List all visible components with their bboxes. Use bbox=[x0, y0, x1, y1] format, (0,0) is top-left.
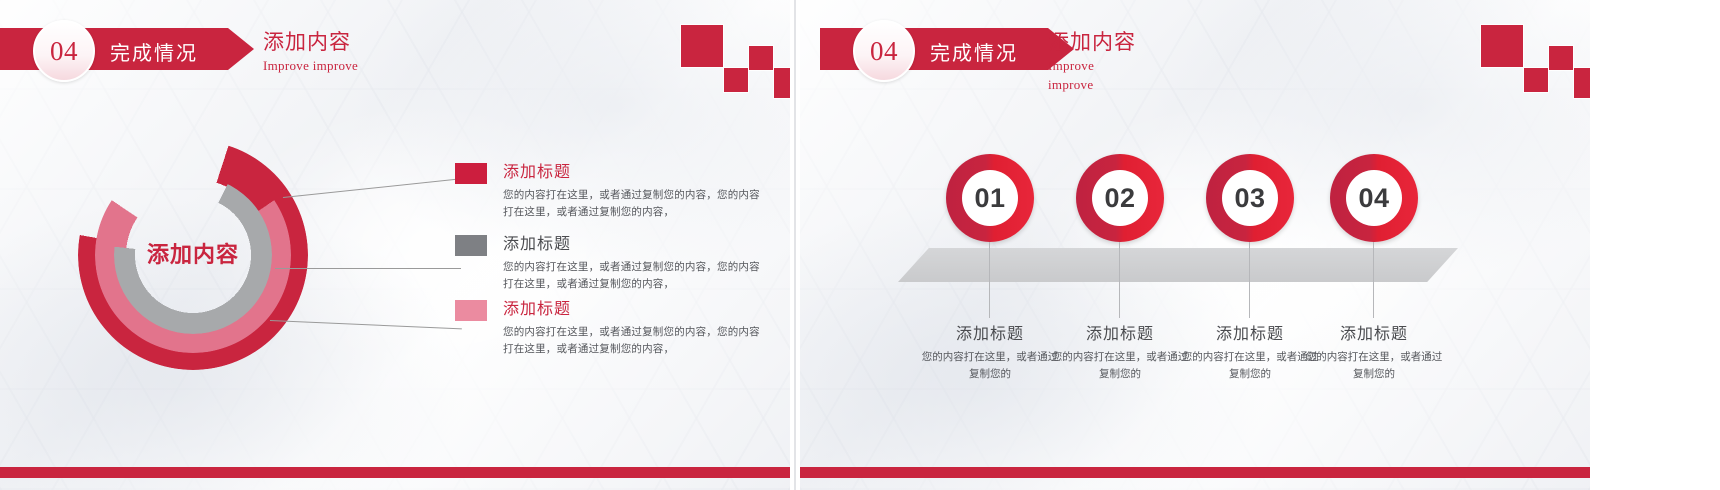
section-title: 完成情况 bbox=[110, 37, 198, 66]
corner-square-mid bbox=[1549, 46, 1573, 70]
corner-square-small bbox=[1524, 68, 1548, 92]
section-number-badge: 04 bbox=[33, 20, 95, 82]
section-number: 04 bbox=[855, 22, 913, 80]
header-title-en: Improve improve bbox=[263, 56, 358, 75]
header-ribbon: 04 完成情况 bbox=[0, 28, 228, 70]
step-connector-line bbox=[1249, 242, 1250, 318]
header-title-cn: 添加内容 bbox=[263, 30, 358, 56]
header-heading: 添加内容 Improve improve bbox=[1048, 30, 1136, 94]
header-ribbon: 04 完成情况 bbox=[820, 28, 1048, 70]
item-title: 添加标题 bbox=[503, 230, 571, 254]
section-number: 04 bbox=[35, 22, 93, 80]
step-number: 02 bbox=[1076, 154, 1164, 242]
item-title: 添加标题 bbox=[503, 295, 571, 319]
two-slide-canvas: 04 完成情况 添加内容 Improve improve 添加内容 添加标题 您… bbox=[0, 0, 1720, 490]
leader-line-2 bbox=[275, 268, 461, 269]
step-connector-line bbox=[1373, 242, 1374, 318]
footer-bar bbox=[0, 467, 790, 478]
step-number-circle[interactable]: 03 bbox=[1206, 154, 1294, 242]
section-title: 完成情况 bbox=[930, 37, 1018, 66]
item-color-chip bbox=[455, 235, 487, 256]
donut-center-label: 添加内容 bbox=[78, 237, 308, 269]
step-body: 您的内容打在这里，或者通过复制您的 bbox=[918, 349, 1062, 383]
step-platform bbox=[898, 248, 1458, 282]
step-item[interactable]: 01 添加标题 您的内容打在这里，或者通过复制您的 bbox=[946, 154, 1046, 242]
item-color-chip bbox=[455, 163, 487, 184]
step-title: 添加标题 bbox=[1298, 320, 1450, 344]
corner-square-edge bbox=[1574, 68, 1590, 98]
footer-bar bbox=[800, 467, 1590, 478]
corner-square-large bbox=[681, 25, 723, 67]
hexagon-background bbox=[800, 0, 1590, 490]
ribbon-arrow-tip bbox=[228, 28, 254, 70]
slide-divider bbox=[790, 0, 800, 490]
item-color-chip bbox=[455, 300, 487, 321]
slide-right[interactable]: 04 完成情况 添加内容 Improve improve 01 添加标题 您的内… bbox=[800, 0, 1590, 490]
step-number-circle[interactable]: 02 bbox=[1076, 154, 1164, 242]
donut-chart[interactable]: 添加内容 bbox=[78, 140, 308, 370]
header-heading: 添加内容 Improve improve bbox=[263, 30, 358, 75]
header-title-cn: 添加内容 bbox=[1048, 30, 1136, 56]
step-body: 您的内容打在这里，或者通过复制您的 bbox=[1048, 349, 1192, 383]
step-number: 04 bbox=[1330, 154, 1418, 242]
corner-square-mid bbox=[749, 46, 773, 70]
step-number: 01 bbox=[946, 154, 1034, 242]
corner-square-edge bbox=[774, 68, 790, 98]
step-connector-line bbox=[989, 242, 990, 318]
header-title-en-line1: Improve bbox=[1048, 56, 1136, 75]
section-number-badge: 04 bbox=[853, 20, 915, 82]
step-item[interactable]: 02 添加标题 您的内容打在这里，或者通过复制您的 bbox=[1076, 154, 1176, 242]
slide-left[interactable]: 04 完成情况 添加内容 Improve improve 添加内容 添加标题 您… bbox=[0, 0, 790, 490]
step-number-circle[interactable]: 01 bbox=[946, 154, 1034, 242]
item-body: 您的内容打在这里，或者通过复制您的内容，您的内容打在这里，或者通过复制您的内容， bbox=[503, 324, 765, 358]
item-body: 您的内容打在这里，或者通过复制您的内容，您的内容打在这里，或者通过复制您的内容， bbox=[503, 259, 765, 293]
corner-square-small bbox=[724, 68, 748, 92]
item-title: 添加标题 bbox=[503, 158, 571, 182]
step-number: 03 bbox=[1206, 154, 1294, 242]
step-item[interactable]: 03 添加标题 您的内容打在这里，或者通过复制您的 bbox=[1206, 154, 1306, 242]
step-connector-line bbox=[1119, 242, 1120, 318]
header-title-en-line2: improve bbox=[1048, 75, 1136, 94]
step-body: 您的内容打在这里，或者通过复制您的 bbox=[1302, 349, 1446, 383]
step-item[interactable]: 04 添加标题 您的内容打在这里，或者通过复制您的 bbox=[1330, 154, 1430, 242]
item-body: 您的内容打在这里，或者通过复制您的内容，您的内容打在这里，或者通过复制您的内容， bbox=[503, 187, 765, 221]
corner-square-large bbox=[1481, 25, 1523, 67]
step-body: 您的内容打在这里，或者通过复制您的 bbox=[1178, 349, 1322, 383]
step-number-circle[interactable]: 04 bbox=[1330, 154, 1418, 242]
